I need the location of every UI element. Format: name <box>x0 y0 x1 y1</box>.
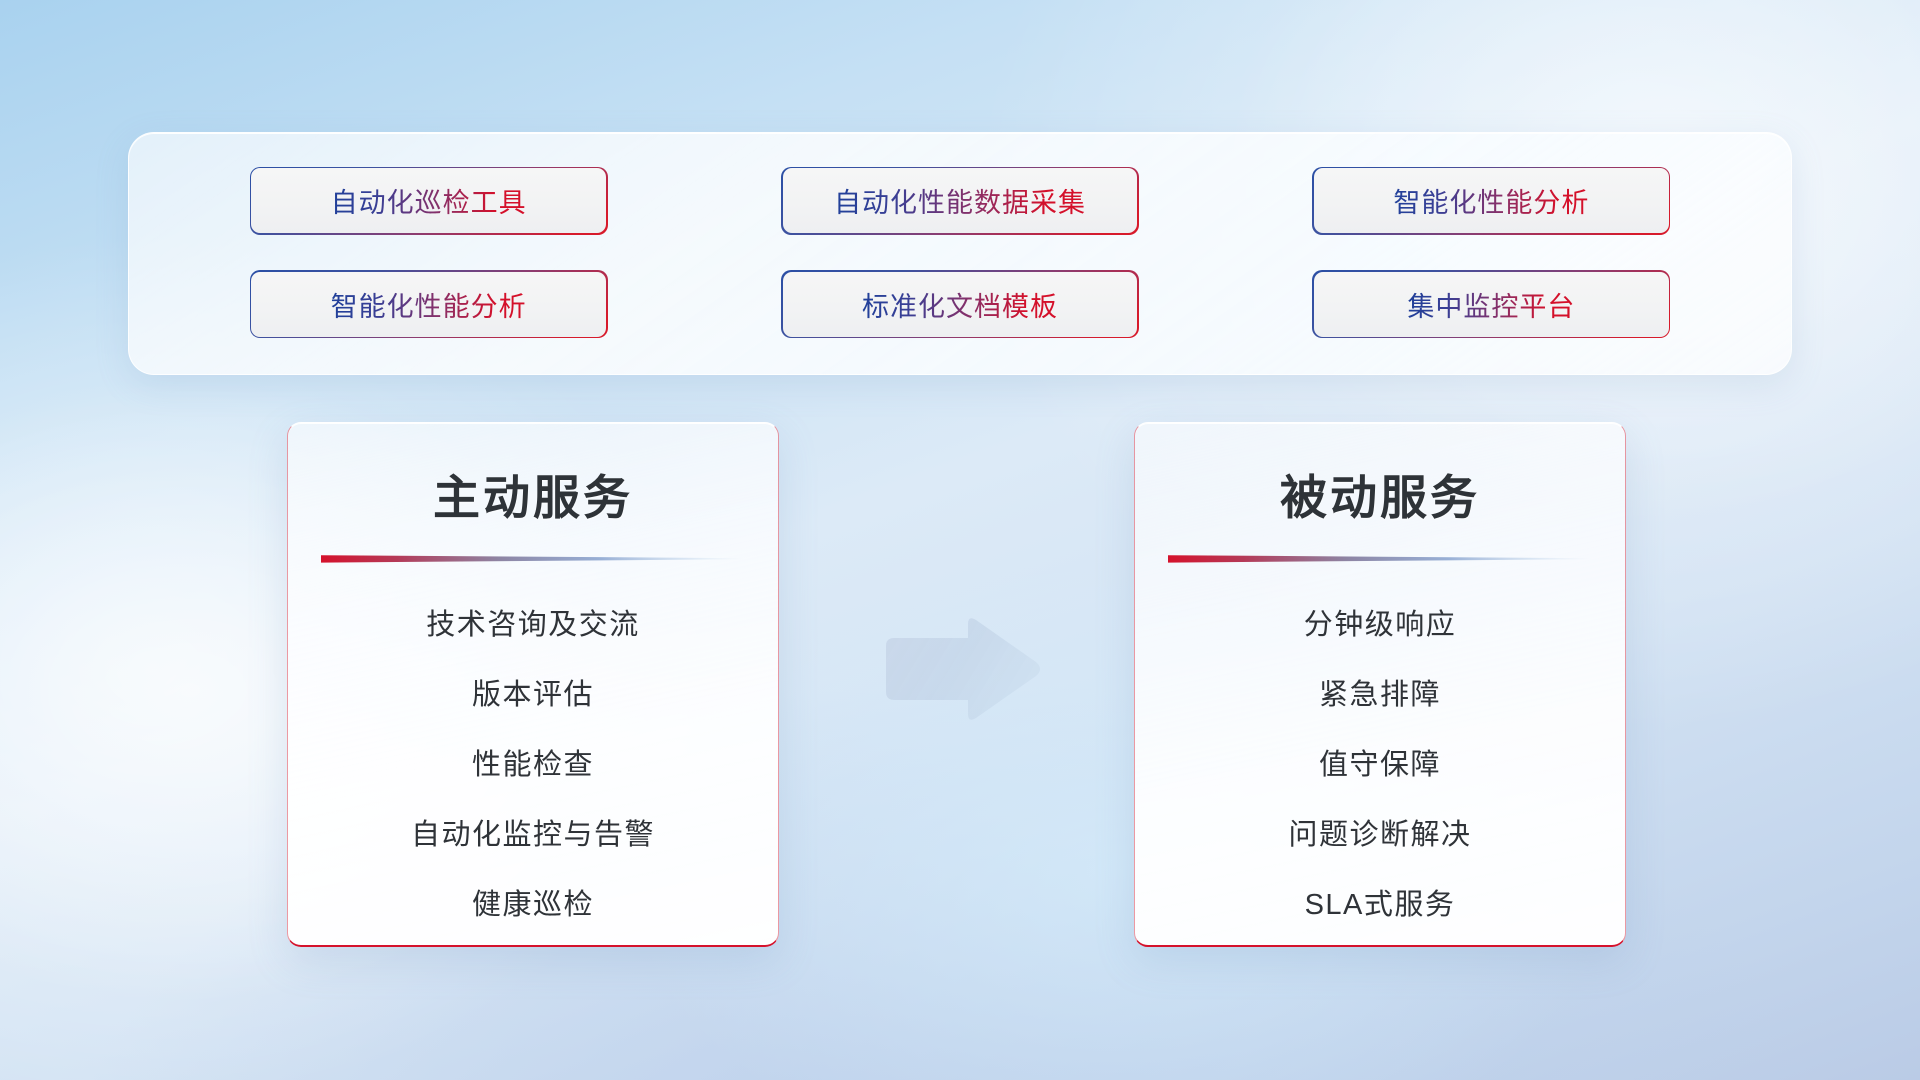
card-divider-rule <box>1168 554 1592 563</box>
service-item: 值守保障 <box>1135 727 1625 797</box>
capability-label: 智能化性能分析 <box>331 285 527 324</box>
capability-pill-surface: 集中监控平台 <box>1314 272 1669 337</box>
service-item: 自动化监控与告警 <box>288 797 778 867</box>
card-title: 被动服务 <box>1135 459 1625 528</box>
service-item: 紧急排障 <box>1135 657 1625 727</box>
service-card-proactive: 主动服务 技术咨询及交流 版本评估 性能检查 <box>287 422 779 947</box>
capability-label: 智能化性能分析 <box>1393 181 1589 220</box>
capability-pill-2[interactable]: 自动化性能数据采集 <box>781 167 1139 235</box>
capability-label: 自动化巡检工具 <box>331 181 527 220</box>
service-item: 版本评估 <box>288 657 778 727</box>
service-item: 健康巡检 <box>288 867 778 937</box>
service-item: SLA式服务 <box>1135 867 1625 937</box>
card-title: 主动服务 <box>288 459 778 528</box>
slide-canvas: 自动化巡检工具 自动化性能数据采集 智能化性能分析 智能化性能分析 标准化文档模… <box>0 0 1920 1080</box>
service-item-list: 技术咨询及交流 版本评估 性能检查 自动化监控与告警 健康巡检 <box>288 587 778 937</box>
capability-pill-3[interactable]: 智能化性能分析 <box>1312 167 1670 235</box>
capability-pill-surface: 智能化性能分析 <box>251 272 606 337</box>
service-item: 分钟级响应 <box>1135 587 1625 657</box>
service-card-reactive: 被动服务 分钟级响应 紧急排障 值守保障 <box>1134 422 1626 947</box>
service-item: 问题诊断解决 <box>1135 797 1625 867</box>
service-item-list: 分钟级响应 紧急排障 值守保障 问题诊断解决 SLA式服务 <box>1135 587 1625 937</box>
capability-pill-6[interactable]: 集中监控平台 <box>1312 270 1670 338</box>
capability-pill-surface: 智能化性能分析 <box>1314 168 1669 233</box>
capability-pill-surface: 自动化性能数据采集 <box>783 168 1138 233</box>
capability-pill-1[interactable]: 自动化巡检工具 <box>250 167 608 235</box>
arrow-right-icon <box>876 614 1044 724</box>
capability-pill-5[interactable]: 标准化文档模板 <box>781 270 1139 338</box>
capability-label: 自动化性能数据采集 <box>834 181 1086 220</box>
card-divider-rule <box>321 554 745 563</box>
capability-panel: 自动化巡检工具 自动化性能数据采集 智能化性能分析 智能化性能分析 标准化文档模… <box>128 132 1792 375</box>
capability-pill-surface: 自动化巡检工具 <box>251 168 606 233</box>
capability-pill-surface: 标准化文档模板 <box>783 272 1138 337</box>
service-item: 性能检查 <box>288 727 778 797</box>
capability-label: 集中监控平台 <box>1407 285 1575 324</box>
capability-label: 标准化文档模板 <box>862 285 1058 324</box>
service-item: 技术咨询及交流 <box>288 587 778 657</box>
capability-pill-4[interactable]: 智能化性能分析 <box>250 270 608 338</box>
